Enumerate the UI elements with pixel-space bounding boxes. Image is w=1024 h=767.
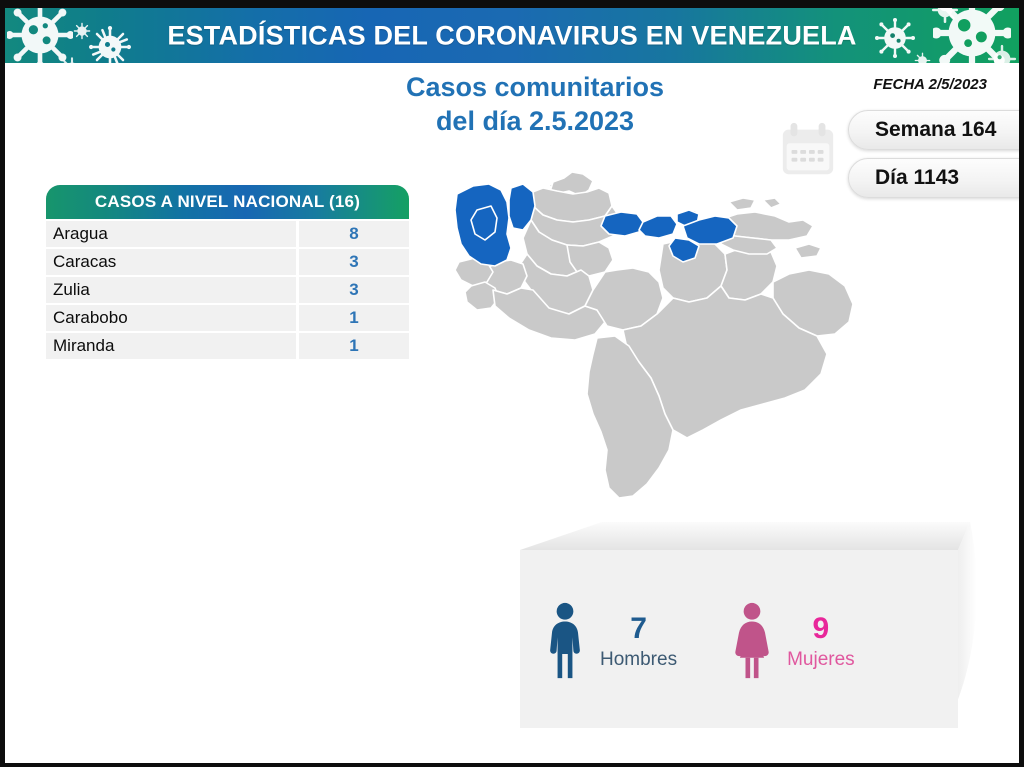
state-name: Aragua <box>46 221 296 247</box>
virus-icon <box>59 56 85 63</box>
banner-title: ESTADÍSTICAS DEL CORONAVIRUS EN VENEZUEL… <box>5 20 1019 51</box>
fecha-label: FECHA 2/5/2023 <box>873 76 987 93</box>
men-values: 7 Hombres <box>600 614 677 669</box>
state-name: Zulia <box>46 277 296 303</box>
table-row[interactable]: Miranda 1 <box>46 333 409 359</box>
women-values: 9 Mujeres <box>787 614 855 669</box>
men-count: 7 <box>600 614 677 644</box>
gender-stats: 7 Hombres 9 Mujeres <box>546 602 855 680</box>
female-icon <box>733 602 771 680</box>
women-stat: 9 Mujeres <box>733 602 855 680</box>
week-badge[interactable]: Semana 164 <box>848 110 1024 150</box>
table-row[interactable]: Carabobo 1 <box>46 305 409 331</box>
subtitle-line-1: Casos comunitarios <box>305 70 765 104</box>
gender-card: 7 Hombres 9 Mujeres <box>510 520 990 745</box>
infographic-page: ESTADÍSTICAS DEL CORONAVIRUS EN VENEZUEL… <box>0 0 1024 767</box>
table-row[interactable]: Aragua 8 <box>46 221 409 247</box>
table-header: CASOS A NIVEL NACIONAL (16) <box>46 185 409 219</box>
state-cases: 1 <box>299 305 409 331</box>
male-icon <box>546 602 584 680</box>
state-name: Carabobo <box>46 305 296 331</box>
national-cases-table: CASOS A NIVEL NACIONAL (16) Aragua 8 Car… <box>46 185 409 361</box>
table-row[interactable]: Zulia 3 <box>46 277 409 303</box>
state-cases: 8 <box>299 221 409 247</box>
week-badge-label: Semana 164 <box>875 118 996 142</box>
state-cases: 3 <box>299 249 409 275</box>
men-label: Hombres <box>600 650 677 669</box>
subtitle-line-2: del día 2.5.2023 <box>305 104 765 138</box>
women-label: Mujeres <box>787 650 855 669</box>
top-border-strip <box>5 0 1019 8</box>
women-count: 9 <box>787 614 855 644</box>
header-banner: ESTADÍSTICAS DEL CORONAVIRUS EN VENEZUEL… <box>5 8 1019 63</box>
state-name: Caracas <box>46 249 296 275</box>
table-body: Aragua 8 Caracas 3 Zulia 3 Carabobo 1 Mi <box>46 219 409 359</box>
state-cases: 3 <box>299 277 409 303</box>
virus-icon <box>914 52 931 63</box>
table-row[interactable]: Caracas 3 <box>46 249 409 275</box>
state-name: Miranda <box>46 333 296 359</box>
page-subtitle: Casos comunitarios del día 2.5.2023 <box>305 70 765 138</box>
men-stat: 7 Hombres <box>546 602 677 680</box>
venezuela-map <box>437 158 937 518</box>
state-cases: 1 <box>299 333 409 359</box>
